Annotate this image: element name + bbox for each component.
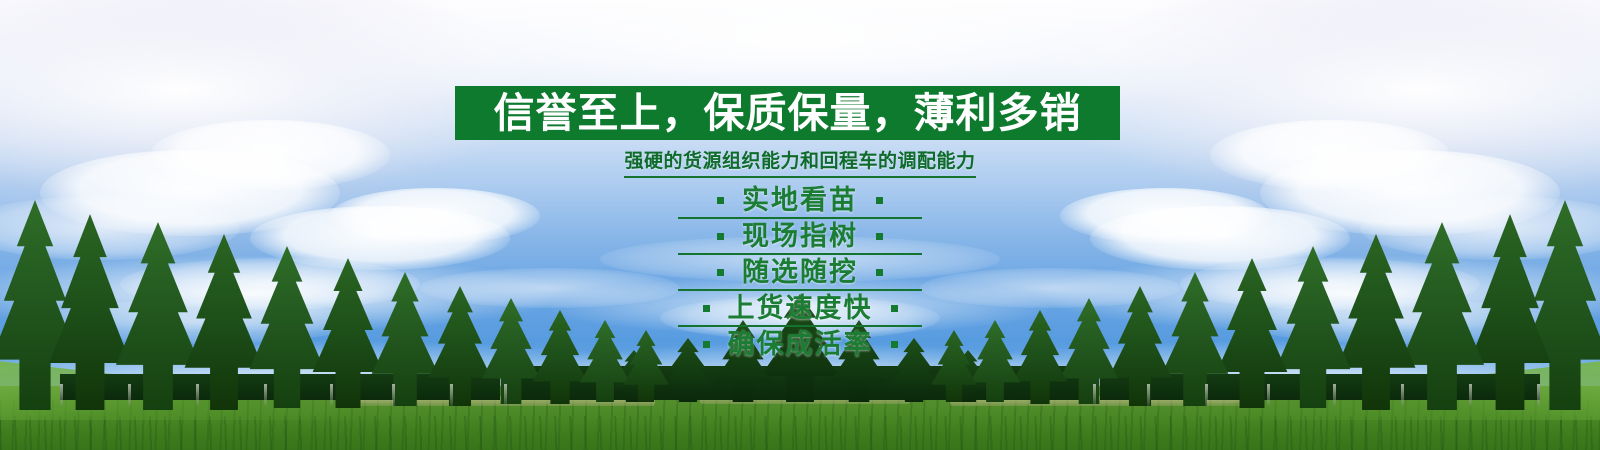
feature-item: 现场指树 [0,218,1600,254]
tree-trunk [330,384,333,406]
tree-trunk [1093,384,1096,406]
crop-rows-secondary [0,416,1600,450]
tree-trunk [264,384,267,406]
tree-trunk [128,384,131,406]
tree-trunk [392,384,395,406]
feature-item: 上货速度快 [0,290,1600,326]
tree-trunk [1333,384,1336,406]
feature-item: 确保成活率 [0,326,1600,362]
bullet-dot-icon [891,341,898,348]
feature-label: 随选随挖 [742,259,858,286]
feature-item: 随选随挖 [0,254,1600,290]
feature-label: 确保成活率 [728,331,873,358]
subtitle-container: 强硬的货源组织能力和回程车的调配能力 [0,146,1600,178]
tree-trunk [1147,384,1150,406]
tree-trunk [1205,384,1208,406]
headline-bar: 信誉至上，保质保量，薄利多销 [455,86,1120,140]
bullet-dot-icon [876,269,883,276]
feature-label: 实地看苗 [742,187,858,214]
bullet-dot-icon [717,233,724,240]
bullet-dot-icon [703,341,710,348]
bullet-dot-icon [703,305,710,312]
tree-trunk [60,384,63,406]
bullet-dot-icon [876,197,883,204]
headline-text: 信誉至上，保质保量，薄利多销 [494,93,1082,134]
feature-label: 现场指树 [742,223,858,250]
tree-trunk [1267,384,1270,406]
feature-label: 上货速度快 [728,295,873,322]
bullet-dot-icon [891,305,898,312]
tree-trunk [450,384,453,406]
promo-banner: 信誉至上，保质保量，薄利多销 强硬的货源组织能力和回程车的调配能力 实地看苗 现… [0,0,1600,450]
tree-trunk [504,384,507,406]
bullet-dot-icon [876,233,883,240]
tree-trunk [1537,384,1540,406]
bullet-dot-icon [717,269,724,276]
feature-list: 实地看苗 现场指树 随选随挖 上货速度快 确保成活率 [0,182,1600,362]
tree-trunk [1401,384,1404,406]
subtitle-text: 强硬的货源组织能力和回程车的调配能力 [624,146,975,178]
tree-trunk [196,384,199,406]
tree-trunk [1469,384,1472,406]
feature-item: 实地看苗 [0,182,1600,218]
bullet-dot-icon [717,197,724,204]
